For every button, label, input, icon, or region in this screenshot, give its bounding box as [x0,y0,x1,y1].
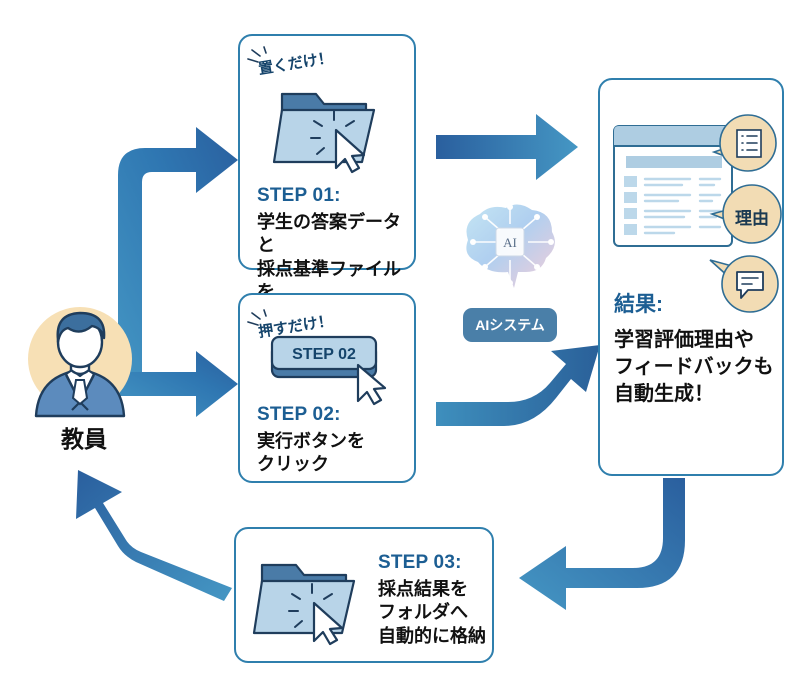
step-02-card[interactable]: 押すだけ！ STEP 02 STEP 02: 実行ボタンを クリック [238,293,416,483]
result-body: 学習評価理由や フィードバックも 自動生成！ [614,327,774,408]
arrow-step01-to-result [436,114,578,180]
open-folder-cursor-icon [250,549,366,645]
result-title: 結果: [614,292,774,317]
sparkle-lines-icon [246,309,286,331]
step-02-button-label: STEP 02 [292,346,356,363]
checklist-bubble [708,112,784,174]
teacher-actor: 教員 [14,298,154,454]
result-card[interactable]: 理由 結果: 学習評価理由や フィードバックも 自動生成！ [598,78,784,476]
push-button-cursor-icon[interactable]: STEP 02 [260,331,400,405]
teacher-label: 教員 [14,420,154,454]
step-03-title: STEP 03: [378,551,486,575]
step-03-body: 採点結果を フォルダへ 自動的に格納 [378,578,486,648]
step-02-title: STEP 02: [257,403,365,427]
ai-system-group: AI AIシステム [448,196,572,342]
ai-brain-icon: AI [448,196,572,294]
step-01-title: STEP 01: [257,184,414,208]
step-03-card[interactable]: STEP 03: 採点結果を フォルダへ 自動的に格納 [234,527,494,663]
sparkle-lines-icon [246,46,286,68]
open-folder-cursor-icon [270,80,386,172]
teacher-avatar [14,298,154,420]
step-01-card[interactable]: 置くだけ！ STEP 01: 学生の答案データと 採点基準ファイルを フォルダへ… [238,34,416,270]
workflow-diagram: 教員 置くだけ！ STEP 01: 学生の答案データと 採点基準ファイルを フォ… [0,0,800,700]
ai-system-chip: AIシステム [463,308,557,342]
ai-brain-label: AI [503,235,517,250]
arrow-step02-to-result [436,345,600,426]
reason-bubble-label: 理由 [725,204,779,229]
arrow-step03-to-teacher [76,470,232,601]
arrow-result-to-step03 [519,478,685,610]
step-02-body: 実行ボタンを クリック [257,430,365,477]
